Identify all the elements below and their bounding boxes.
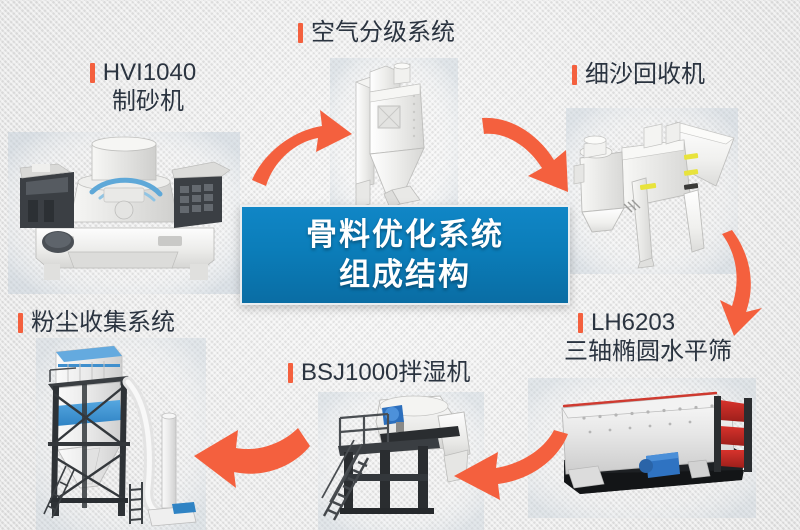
label-horizontal-screen: LH6203 三轴椭圆水平筛 xyxy=(578,308,732,367)
label-sand-maker-line2: 制砂机 xyxy=(68,87,228,116)
center-title-panel: 骨料优化系统 组成结构 xyxy=(240,205,570,305)
flow-arrow-4 xyxy=(440,428,572,518)
infographic-canvas: 骨料优化系统 组成结构 HVI1040 制砂机 空气分级系统 细沙回收机 LH6… xyxy=(0,0,800,530)
flow-arrow-2 xyxy=(480,106,590,198)
center-title-line2: 组成结构 xyxy=(339,255,471,295)
label-horizontal-screen-line2: 三轴椭圆水平筛 xyxy=(564,337,732,366)
machine-image-sand-maker xyxy=(8,132,240,294)
label-marker-bar xyxy=(572,65,577,85)
label-dust-collector-line1: 粉尘收集系统 xyxy=(31,309,175,336)
label-wet-mixer: BSJ1000拌湿机 xyxy=(288,358,470,387)
flow-arrow-1 xyxy=(250,104,354,190)
label-marker-bar xyxy=(288,363,293,383)
label-marker-bar xyxy=(18,313,23,333)
label-fine-sand-recovery: 细沙回收机 xyxy=(572,60,705,89)
flow-arrow-5 xyxy=(188,414,312,494)
label-marker-bar xyxy=(90,63,95,83)
label-air-classifier: 空气分级系统 xyxy=(298,18,455,47)
label-marker-bar xyxy=(578,313,583,333)
label-dust-collector: 粉尘收集系统 xyxy=(18,308,175,337)
label-sand-maker: HVI1040 制砂机 xyxy=(58,58,228,117)
label-air-classifier-line1: 空气分级系统 xyxy=(311,19,455,46)
center-title-line1: 骨料优化系统 xyxy=(306,215,504,255)
label-marker-bar xyxy=(298,23,303,43)
machine-image-dust-collector xyxy=(36,338,206,530)
label-wet-mixer-line1: BSJ1000拌湿机 xyxy=(301,359,470,386)
label-sand-maker-line1: HVI1040 xyxy=(103,59,196,86)
label-fine-sand-recovery-line1: 细沙回收机 xyxy=(585,61,705,88)
label-horizontal-screen-line1: LH6203 xyxy=(591,309,675,336)
